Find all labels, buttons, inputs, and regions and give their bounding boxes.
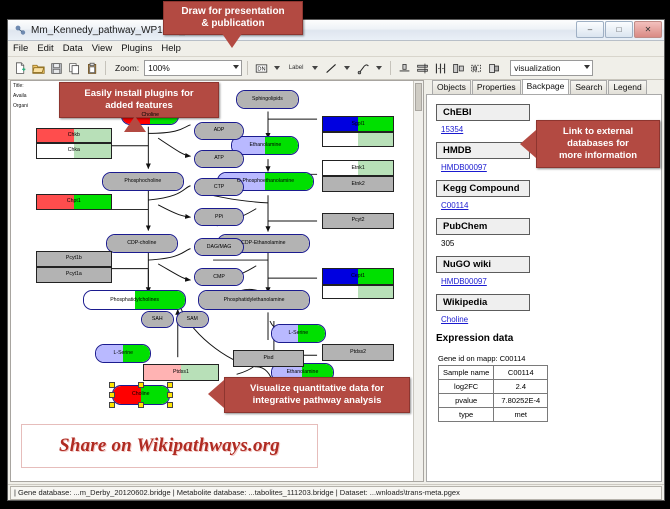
minimize-button[interactable]: –: [576, 21, 604, 38]
exp-key-pvalue: pvalue: [439, 394, 494, 408]
copy-icon[interactable]: [66, 60, 82, 76]
callout-external-links: Link to external databases for more info…: [536, 120, 660, 168]
pathway-node-l_serine_right[interactable]: L-Serine: [271, 324, 327, 343]
node-label: Chpt1: [67, 199, 81, 204]
pathway-node-chpt1[interactable]: Chpt1: [36, 194, 112, 210]
tab-search[interactable]: Search: [570, 80, 607, 94]
paste-icon[interactable]: [84, 60, 100, 76]
group-icon[interactable]: [468, 60, 484, 76]
db-header-hmdb: HMDB: [436, 142, 530, 159]
db-link-kegg[interactable]: C00114: [441, 201, 661, 210]
selection-handle[interactable]: [138, 382, 144, 388]
callout-visualize: Visualize quantitative data for integrat…: [224, 377, 410, 413]
db-value-pubchem: 305: [441, 239, 661, 248]
tab-objects[interactable]: Objects: [432, 80, 471, 94]
tab-legend[interactable]: Legend: [608, 80, 646, 94]
menu-item-view[interactable]: View: [92, 43, 112, 54]
pathway-node-etnk1[interactable]: Etnk1: [322, 160, 394, 176]
pathway-node-adp[interactable]: ADP: [194, 122, 243, 140]
pathway-node-cmp[interactable]: CMP: [194, 268, 243, 286]
menu-bar: File Edit Data View Plugins Help: [8, 41, 664, 57]
pathway-node-pisd[interactable]: Pisd: [233, 350, 303, 367]
exp-key-type: type: [439, 408, 494, 422]
tab-backpage[interactable]: Backpage: [522, 79, 570, 94]
pathway-canvas[interactable]: Title: Availa Organi CholineSphingolipid…: [10, 80, 424, 482]
node-fill-left: [323, 133, 358, 146]
pathway-node-dagmag[interactable]: DAG/MAG: [194, 238, 243, 256]
pathway-node-pcyt2[interactable]: Pcyt2: [322, 213, 394, 229]
zoom-combo[interactable]: 100%: [144, 60, 242, 76]
node-label: Chkb: [68, 133, 80, 138]
pathway-node-ptdss1[interactable]: Ptdss1: [143, 364, 219, 381]
pathway-node-ppi[interactable]: PPi: [194, 208, 243, 226]
selection-handle[interactable]: [109, 392, 115, 398]
node-label: Phosphocholine: [124, 179, 161, 184]
menu-item-data[interactable]: Data: [63, 43, 83, 54]
exp-val-type: met: [494, 408, 548, 422]
db-header-kegg: Kegg Compound: [436, 180, 530, 197]
zoom-label: Zoom:: [115, 63, 139, 73]
pathway-node-l_serine_left[interactable]: L-Serine: [95, 344, 151, 363]
menu-item-plugins[interactable]: Plugins: [121, 43, 152, 54]
db-header-chebi: ChEBI: [436, 104, 530, 121]
save-icon[interactable]: [48, 60, 64, 76]
node-label: L-Serine: [289, 331, 309, 336]
pathway-node-sphingolipids[interactable]: Sphingolipids: [236, 90, 300, 109]
node-label: Sphingolipids: [252, 97, 283, 102]
sidebar-tabs: Objects Properties Backpage Search Legen…: [426, 80, 662, 94]
size-icon[interactable]: [450, 60, 466, 76]
node-label: Choline: [132, 392, 150, 397]
node-label: L-Serine: [113, 351, 133, 356]
pathway-node-chkb[interactable]: Chkb: [36, 128, 112, 143]
canvas-title-label: Title:: [13, 83, 24, 89]
zoom-value: 100%: [148, 63, 170, 73]
table-row: type met: [439, 408, 548, 422]
toolbar-separator-2: [247, 61, 248, 75]
status-bar: | Gene database: ...m_Derby_20120602.bri…: [8, 484, 664, 500]
pathway-node-phosphatidylethanolamine[interactable]: Phosphatidylethanolamine: [198, 290, 309, 310]
callout-plugins-arrow: [124, 116, 146, 132]
exp-key-sample: Sample name: [439, 366, 494, 380]
screenshot-root: Mm_Kennedy_pathway_WP1771_45176.gpml – □…: [0, 0, 670, 509]
node-fill-right: [358, 286, 393, 298]
toolbar-separator: [105, 61, 106, 75]
db-link-nugo[interactable]: HMDB00097: [441, 277, 661, 286]
node-label: Sgpl1: [351, 122, 364, 127]
node-label: Chka: [68, 148, 80, 153]
db-link-wikipedia[interactable]: Choline: [441, 315, 661, 324]
menu-item-edit[interactable]: Edit: [37, 43, 53, 54]
open-folder-icon[interactable]: [30, 60, 46, 76]
pathway-node-pcyt1a[interactable]: Pcyt1a: [36, 267, 112, 283]
app-icon: [14, 24, 26, 36]
callout-draw-arrow: [221, 32, 243, 48]
callout-plugins: Easily install plugins for added feature…: [59, 82, 219, 118]
pathway-node-ptdss2[interactable]: Ptdss2: [322, 344, 394, 361]
canvas-availability-label: Availa: [13, 93, 27, 99]
node-label: CMP: [213, 275, 225, 280]
status-text: | Gene database: ...m_Derby_20120602.bri…: [10, 486, 662, 500]
pathway-node-sah[interactable]: SAH: [141, 311, 174, 328]
toolbar-separator-3: [390, 61, 391, 75]
table-row: log2FC 2.4: [439, 380, 548, 394]
tab-properties[interactable]: Properties: [472, 80, 521, 94]
chevron-down-icon-datanode[interactable]: [274, 66, 280, 70]
pathway-node-cept1[interactable]: Cept1: [322, 268, 394, 285]
node-label: DAG/MAG: [207, 245, 232, 250]
expression-table: Sample name C00114 log2FC 2.4 pvalue 7.8…: [438, 365, 548, 422]
chevron-down-icon-visualization: [584, 65, 590, 69]
pathway-node-pcyt1b[interactable]: Pcyt1b: [36, 251, 112, 267]
table-row: pvalue 7.80252E-4: [439, 394, 548, 408]
canvas-vscroll-thumb[interactable]: [415, 83, 422, 111]
title-bar: Mm_Kennedy_pathway_WP1771_45176.gpml – □…: [8, 20, 664, 41]
node-label: ATP: [214, 156, 224, 161]
pathway-node-cdp_choline[interactable]: CDP-choline: [106, 234, 178, 253]
svg-text:DN: DN: [257, 66, 265, 72]
node-label: PPi: [215, 215, 223, 220]
selection-handle[interactable]: [167, 402, 173, 408]
node-fill-left: [323, 286, 358, 298]
share-banner: Share on Wikipathways.org: [21, 424, 318, 468]
table-row: Sample name C00114: [439, 366, 548, 380]
node-label: Phosphatidylcholines: [110, 298, 159, 303]
node-label: Etnk2: [351, 182, 364, 187]
callout-external-arrow: [520, 130, 536, 158]
node-label: Pcyt1a: [66, 272, 82, 277]
application-window: Mm_Kennedy_pathway_WP1771_45176.gpml – □…: [7, 19, 665, 501]
node-label: Ethanolamine: [250, 143, 282, 148]
distribute-icon[interactable]: [414, 60, 430, 76]
callout-draw: Draw for presentation & publication: [163, 1, 303, 35]
node-label: CDP-Ethanolamine: [241, 241, 285, 246]
chevron-down-icon-line[interactable]: [344, 66, 350, 70]
selection-handle[interactable]: [167, 382, 173, 388]
db-header-nugo: NuGO wiki: [436, 256, 530, 273]
node-label: Ptdss1: [173, 370, 189, 375]
canvas-vscrollbar[interactable]: [413, 81, 423, 481]
selection-handle[interactable]: [138, 402, 144, 408]
main-body: Title: Availa Organi CholineSphingolipid…: [8, 78, 664, 484]
node-label: SAM: [187, 317, 198, 322]
node-label: Pcyt1b: [66, 256, 82, 261]
node-label: ADP: [214, 128, 225, 133]
pathway-node-atp[interactable]: ATP: [194, 150, 243, 168]
window-buttons: – □ ✕: [576, 21, 662, 38]
pathway-node-cept1b[interactable]: [322, 285, 394, 299]
chevron-down-icon-label[interactable]: [312, 66, 318, 70]
exp-key-log2fc: log2FC: [439, 380, 494, 394]
node-label: Ptdss2: [350, 350, 366, 355]
node-fill-right: [358, 133, 393, 146]
chevron-down-icon-receptor[interactable]: [376, 66, 382, 70]
maximize-button[interactable]: □: [605, 21, 633, 38]
selection-handle[interactable]: [109, 402, 115, 408]
node-label: CDP-choline: [127, 241, 156, 246]
pathway-node-sam[interactable]: SAM: [176, 311, 209, 328]
pathway-node-phosphocholine[interactable]: Phosphocholine: [102, 172, 184, 191]
pathway-node-phosphatidylcholines[interactable]: Phosphatidylcholines: [83, 290, 186, 310]
receptor-icon[interactable]: [355, 60, 371, 76]
node-label: Ethanolamine: [287, 370, 319, 375]
align-icon[interactable]: [396, 60, 412, 76]
close-button[interactable]: ✕: [634, 21, 662, 38]
node-label: Pisd: [263, 356, 273, 361]
data-node-icon[interactable]: DN: [253, 60, 269, 76]
node-label: CTP: [214, 185, 224, 190]
toolbar: Zoom: 100% DN Label: [8, 57, 664, 80]
exp-val-pvalue: 7.80252E-4: [494, 394, 548, 408]
pathway-node-sgpl1[interactable]: Sgpl1: [322, 116, 394, 132]
pathway-node-chka[interactable]: Chka: [36, 143, 112, 158]
db-header-pubchem: PubChem: [436, 218, 530, 235]
visualization-value: visualization: [514, 63, 560, 73]
share-banner-text: Share on Wikipathways.org: [59, 435, 280, 457]
gene-id-line: Gene id on mapp: C00114: [438, 354, 661, 363]
canvas-organism-label: Organi: [13, 103, 28, 109]
node-label: Cept1: [351, 274, 365, 279]
menu-item-file[interactable]: File: [13, 43, 28, 54]
expression-data-title: Expression data: [436, 333, 661, 344]
pathway-node-etnk2[interactable]: Etnk2: [322, 176, 394, 192]
node-label: Phosphatidylethanolamine: [224, 298, 285, 303]
stack-icon[interactable]: [432, 60, 448, 76]
order-icon[interactable]: [486, 60, 502, 76]
line-icon[interactable]: [323, 60, 339, 76]
menu-item-help[interactable]: Help: [161, 43, 181, 54]
node-label: Choline: [141, 113, 159, 118]
callout-visualize-arrow: [208, 380, 224, 408]
node-label: SAH: [152, 317, 163, 322]
pathway-node-sgpl1b[interactable]: [322, 132, 394, 147]
new-file-icon[interactable]: [12, 60, 28, 76]
exp-val-sample: C00114: [494, 366, 548, 380]
sidebar: Objects Properties Backpage Search Legen…: [426, 80, 662, 482]
exp-val-log2fc: 2.4: [494, 380, 548, 394]
selection-handle[interactable]: [109, 382, 115, 388]
pathway-graph[interactable]: Title: Availa Organi CholineSphingolipid…: [11, 81, 423, 481]
label-icon[interactable]: Label: [285, 60, 307, 76]
node-label: Pcyt2: [352, 218, 365, 223]
chevron-down-icon: [233, 65, 239, 69]
node-label: Etnk1: [351, 166, 364, 171]
db-header-wikipedia: Wikipedia: [436, 294, 530, 311]
node-label: O-Phosphoethanolamine: [237, 179, 294, 184]
selection-handle[interactable]: [167, 392, 173, 398]
visualization-combo[interactable]: visualization: [510, 60, 593, 76]
